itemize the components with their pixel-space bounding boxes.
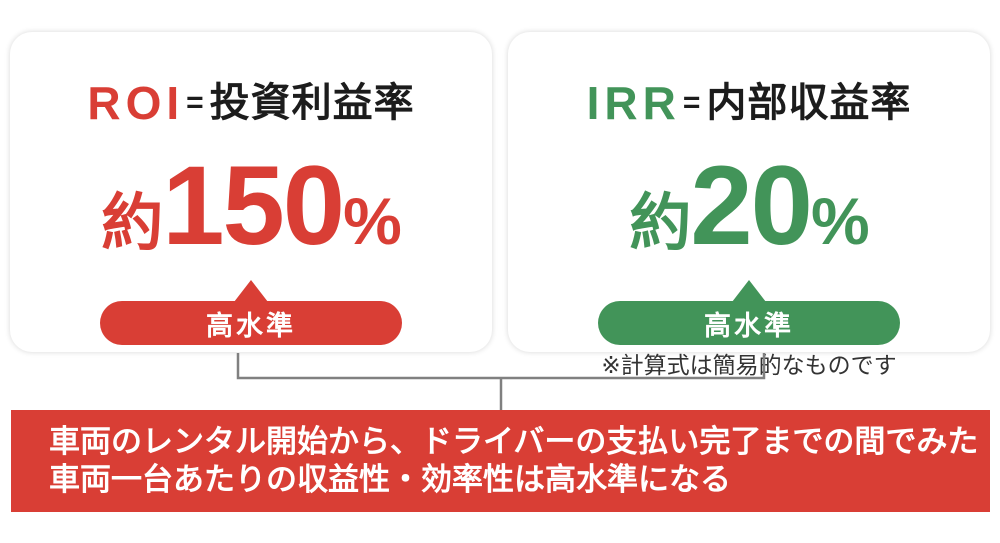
value-number: 20: [690, 143, 811, 268]
metric-abbreviation: ROI: [87, 77, 184, 129]
pill-wrapper-irr: 高水準: [508, 280, 990, 345]
summary-line-1: 車両のレンタル開始から、ドライバーの支払い完了までの間でみた: [49, 423, 990, 461]
metric-value-roi: 約150%: [10, 150, 492, 262]
status-badge-roi: 高水準: [100, 301, 402, 345]
card-heading-irr: IRR=内部収益率: [508, 80, 990, 126]
metric-card-irr: IRR=内部収益率 約20% 高水準 ※計算式は簡易的なものです: [508, 32, 990, 352]
value-approx-prefix: 約: [629, 189, 690, 258]
up-arrow-icon: [732, 280, 766, 302]
value-approx-prefix: 約: [101, 189, 162, 258]
metric-full-name: 内部収益率: [706, 81, 911, 125]
value-unit: %: [343, 184, 401, 258]
summary-banner: 車両のレンタル開始から、ドライバーの支払い完了までの間でみた 車両一台あたりの収…: [11, 410, 990, 512]
bracket-connector: [0, 345, 1000, 415]
summary-line-2: 車両一台あたりの収益性・効率性は高水準になる: [49, 461, 990, 499]
metric-value-irr: 約20%: [508, 150, 990, 262]
equals-sign: =: [186, 86, 204, 119]
card-heading-roi: ROI=投資利益率: [10, 80, 492, 126]
metric-card-roi: ROI=投資利益率 約150% 高水準: [10, 32, 492, 352]
metric-abbreviation: IRR: [587, 77, 681, 129]
value-number: 150: [162, 143, 343, 268]
value-unit: %: [811, 184, 869, 258]
equals-sign: =: [683, 86, 701, 119]
metric-full-name: 投資利益率: [210, 81, 415, 125]
pill-wrapper-roi: 高水準: [10, 280, 492, 345]
up-arrow-icon: [234, 280, 268, 302]
status-badge-irr: 高水準: [598, 301, 900, 345]
connector-bracket-path: [238, 353, 764, 378]
